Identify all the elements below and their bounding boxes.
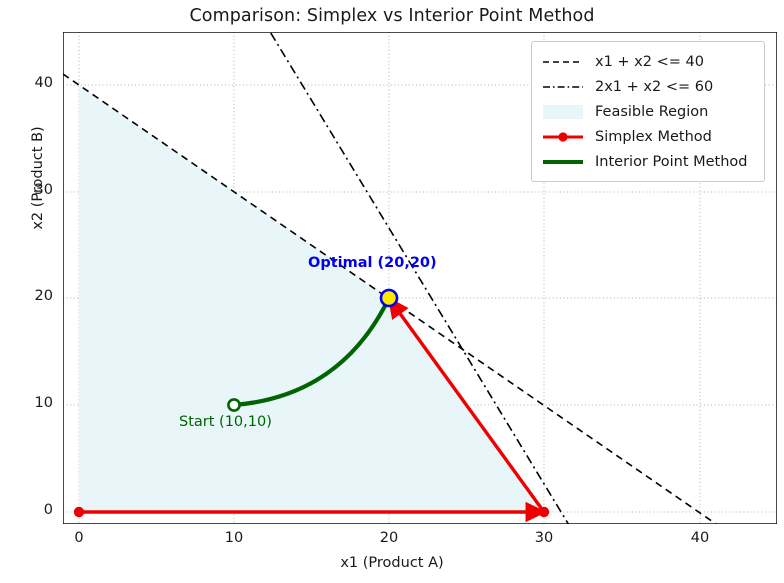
legend-item-constraint-1[interactable]: x1 + x2 <= 40 <box>540 49 755 74</box>
simplex-vertex-0-0 <box>74 507 84 517</box>
y-tick-label-20: 20 <box>13 288 53 304</box>
annotation-optimal: Optimal (20,20) <box>308 255 437 271</box>
legend-label-feasible-region: Feasible Region <box>595 103 708 121</box>
legend-item-constraint-2[interactable]: 2x1 + x2 <= 60 <box>540 74 755 99</box>
y-tick-label-10: 10 <box>13 395 53 411</box>
y-tick-label-40: 40 <box>13 75 53 91</box>
red-marker-line-key <box>540 128 586 146</box>
optimal-point-marker <box>381 290 397 306</box>
annotation-start: Start (10,10) <box>179 414 272 430</box>
legend-label-constraint-2: 2x1 + x2 <= 60 <box>595 78 713 96</box>
figure: Comparison: Simplex vs Interior Point Me… <box>0 0 784 583</box>
x-axis-label: x1 (Product A) <box>0 555 784 571</box>
fill-patch-key <box>540 103 586 121</box>
legend-label-interior-point: Interior Point Method <box>595 153 748 171</box>
legend-item-simplex[interactable]: Simplex Method <box>540 124 755 149</box>
chart-title: Comparison: Simplex vs Interior Point Me… <box>0 6 784 26</box>
dashdot-line-key <box>540 78 586 96</box>
legend[interactable]: x1 + x2 <= 40 2x1 + x2 <= 60 Feasible Re… <box>531 41 765 182</box>
x-tick-label-20: 20 <box>369 530 409 546</box>
legend-label-constraint-1: x1 + x2 <= 40 <box>595 53 704 71</box>
y-tick-label-0: 0 <box>13 502 53 518</box>
y-tick-label-30: 30 <box>13 182 53 198</box>
x-tick-label-10: 10 <box>214 530 254 546</box>
start-point-marker <box>228 399 239 410</box>
dashed-line-key <box>540 53 586 71</box>
simplex-vertex-30-0 <box>539 507 549 517</box>
legend-label-simplex: Simplex Method <box>595 128 712 146</box>
x-tick-label-40: 40 <box>680 530 720 546</box>
x-tick-label-30: 30 <box>524 530 564 546</box>
legend-item-feasible-region[interactable]: Feasible Region <box>540 99 755 124</box>
green-line-key <box>540 153 586 171</box>
y-axis-label: x2 (Product B) <box>30 98 46 258</box>
x-tick-label-0: 0 <box>59 530 99 546</box>
legend-item-interior-point[interactable]: Interior Point Method <box>540 149 755 174</box>
